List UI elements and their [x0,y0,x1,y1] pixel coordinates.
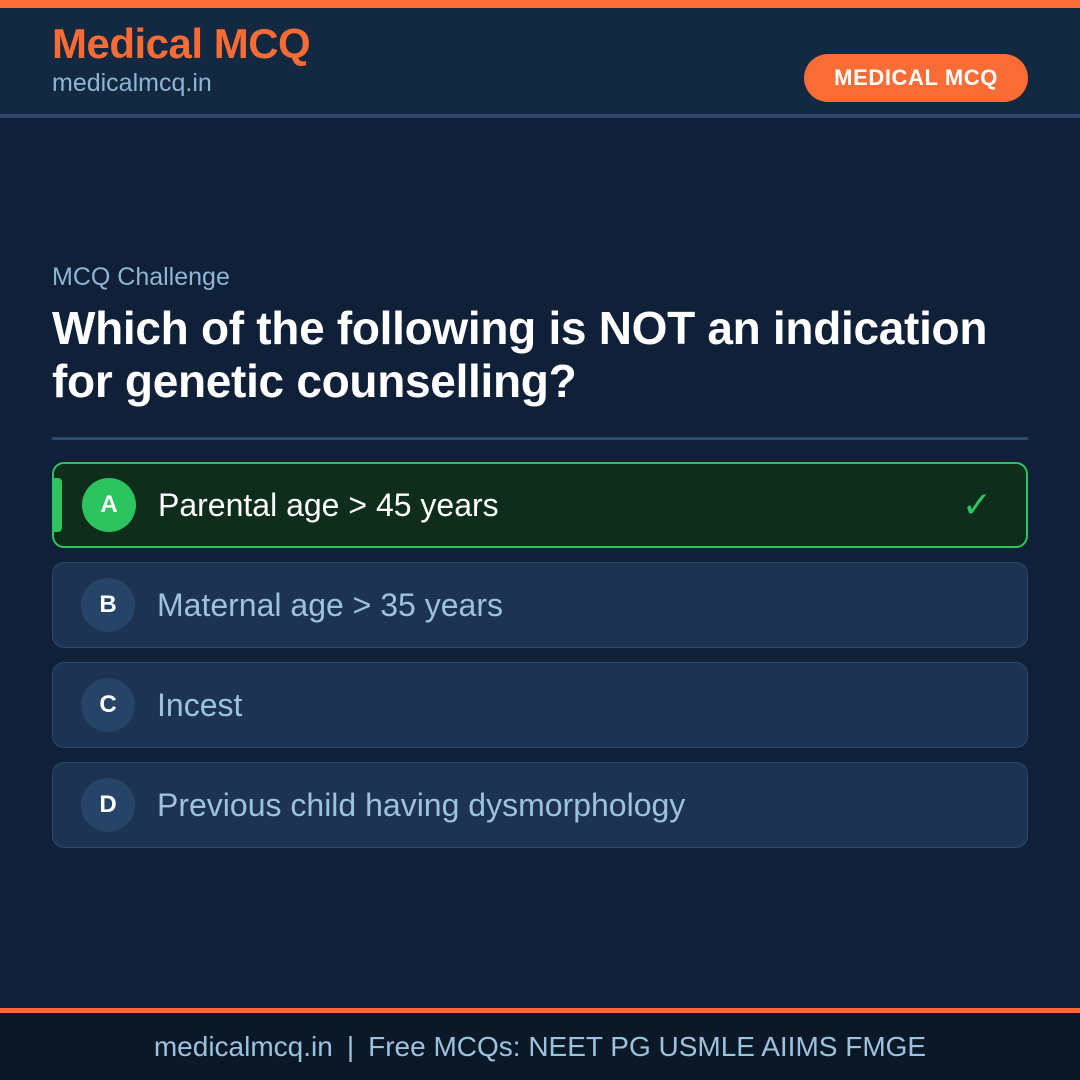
option-c[interactable]: C Incest [52,662,1028,748]
option-label-a: Parental age > 45 years [158,486,499,524]
question-text: Which of the following is NOT an indicat… [52,302,992,409]
app-footer: medicalmcq.in|Free MCQs: NEET PG USMLE A… [0,1008,1080,1080]
option-a[interactable]: A Parental age > 45 years ✓ [52,462,1028,548]
footer-separator: | [333,1031,368,1062]
app-header: Medical MCQ medicalmcq.in MEDICAL MCQ [0,8,1080,118]
option-b[interactable]: B Maternal age > 35 years [52,562,1028,648]
brand-title: Medical MCQ [52,22,310,66]
brand: Medical MCQ medicalmcq.in [52,22,310,98]
eyebrow-label: MCQ Challenge [52,262,1028,292]
brand-subtitle: medicalmcq.in [52,68,310,98]
divider [52,437,1028,440]
option-letter-d: D [81,778,135,832]
correct-accent-bar [54,478,62,532]
option-letter-c: C [81,678,135,732]
option-d[interactable]: D Previous child having dysmorphology [52,762,1028,848]
header-badge: MEDICAL MCQ [804,54,1028,102]
options-list: A Parental age > 45 years ✓ B Maternal a… [52,462,1028,848]
top-accent-bar [0,0,1080,8]
option-letter-a: A [82,478,136,532]
footer-content: medicalmcq.in|Free MCQs: NEET PG USMLE A… [154,1031,926,1063]
check-icon: ✓ [962,487,992,523]
option-label-c: Incest [157,686,242,724]
option-label-b: Maternal age > 35 years [157,586,503,624]
option-label-d: Previous child having dysmorphology [157,786,685,824]
footer-tagline: Free MCQs: NEET PG USMLE AIIMS FMGE [368,1031,926,1062]
footer-site[interactable]: medicalmcq.in [154,1031,333,1062]
option-letter-b: B [81,578,135,632]
question-panel: MCQ Challenge Which of the following is … [52,262,1028,848]
